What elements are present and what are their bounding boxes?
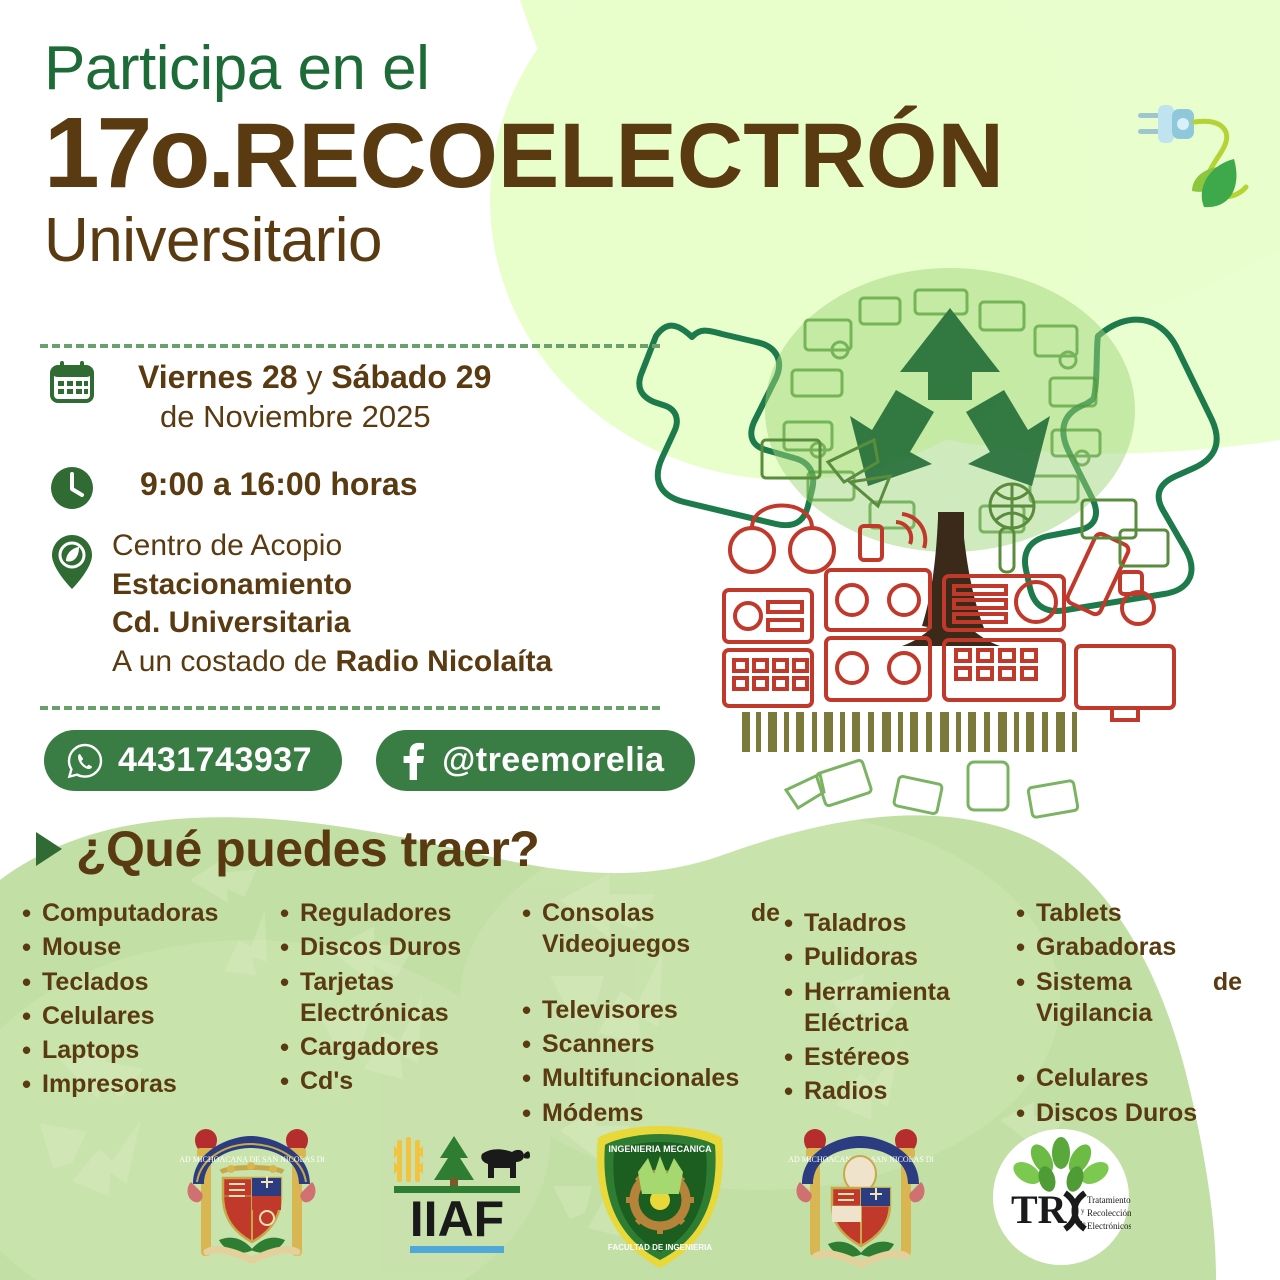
- bring-column-3: Consolas de Videojuegos Televisores Scan…: [518, 898, 780, 1132]
- umsnh-crest-logo: UNIVERSIDAD MICHOACANA DE SAN NICOLAS DE…: [179, 1122, 324, 1272]
- detail-row-time: 9:00 a 16:00 horas: [44, 453, 684, 511]
- place-line-4: A un costado de Radio Nicolaíta: [100, 643, 552, 681]
- poster-canvas: Participa en el 17o.RECOELECTRÓN Univers…: [0, 0, 1280, 1280]
- whatsapp-number: 4431743937: [118, 741, 312, 780]
- list-item: Radios: [780, 1076, 1012, 1107]
- plug-icon: [1138, 105, 1194, 143]
- iiaf-underline: [410, 1246, 504, 1253]
- wheat-icon: [394, 1137, 423, 1182]
- detail-row-date: Viernes 28 y Sábado 29 de Noviembre 2025: [44, 358, 684, 437]
- tre-conj-1: y: [1081, 1207, 1085, 1215]
- list-item: Impresoras: [18, 1069, 276, 1100]
- whatsapp-pill[interactable]: 4431743937: [44, 730, 342, 791]
- divider-bottom: [40, 706, 660, 710]
- whatsapp-icon: [66, 742, 104, 780]
- bring-section: ¿Qué puedes traer? Computadoras Mouse Te…: [0, 820, 1280, 1132]
- tre-line-3: Electrónicos: [1087, 1221, 1131, 1231]
- shield-bottom-text: FACULTAD DE INGENIERIA: [608, 1243, 712, 1252]
- bring-columns: Computadoras Mouse Teclados Celulares La…: [0, 898, 1280, 1132]
- edition-number: 17o.: [44, 97, 232, 209]
- list-item: Celulares: [18, 1001, 276, 1032]
- place-line-2: Estacionamiento: [112, 568, 352, 601]
- bring-column-5: Tablets Grabadoras Sistema de Vigilancia…: [1012, 898, 1242, 1132]
- date-day-1: Viernes 28: [138, 359, 298, 395]
- tre-conj-2: de: [1079, 1220, 1086, 1228]
- place-landmark: Radio Nicolaíta: [336, 645, 553, 678]
- place-text-group: Centro de Acopio Estacionamiento Cd. Uni…: [100, 527, 552, 681]
- tre-mark: TR: [1011, 1187, 1068, 1232]
- facebook-pill[interactable]: @treemorelia: [376, 730, 694, 791]
- detail-row-place: Centro de Acopio Estacionamiento Cd. Uni…: [44, 527, 684, 681]
- list-item: Teclados: [18, 967, 276, 998]
- triangle-bullet-icon: [36, 832, 62, 866]
- list-item: Herramienta Eléctrica: [780, 977, 1012, 1040]
- list-item: Mouse: [18, 932, 276, 963]
- list-item: Cd's: [276, 1066, 518, 1097]
- list-item: Pulidoras: [780, 942, 1012, 973]
- contact-pills: 4431743937 @treemorelia: [44, 730, 695, 791]
- plug-leaf-logo: [1130, 95, 1280, 225]
- poster-header: Participa en el 17o.RECOELECTRÓN Univers…: [44, 38, 1234, 273]
- place-line-3: Cd. Universitaria: [112, 606, 350, 639]
- tre-line-2: Recolección: [1087, 1208, 1131, 1218]
- facebook-handle: @treemorelia: [442, 741, 664, 780]
- pine-tree-icon: [434, 1136, 474, 1186]
- location-pin-icon: [44, 527, 100, 591]
- list-item: Estéreos: [780, 1042, 1012, 1073]
- bring-heading-row: ¿Qué puedes traer?: [0, 820, 1280, 878]
- calendar-icon: [44, 358, 100, 406]
- list-item: Cargadores: [276, 1032, 518, 1063]
- bring-column-4: Taladros Pulidoras Herramienta Eléctrica…: [780, 898, 1012, 1132]
- list-item: Televisores: [518, 995, 780, 1026]
- cow-icon: [481, 1149, 530, 1178]
- list-item: Multifuncionales: [518, 1063, 780, 1094]
- list-item: Computadoras: [18, 898, 276, 929]
- date-line-2: de Noviembre 2025: [100, 397, 491, 437]
- facebook-icon: [398, 742, 428, 780]
- page-title: 17o.RECOELECTRÓN: [44, 102, 1234, 204]
- bring-column-2: Reguladores Discos Duros Tarjetas Electr…: [276, 898, 518, 1132]
- list-item: Reguladores: [276, 898, 518, 929]
- list-item: Tablets: [1012, 898, 1242, 929]
- list-item: Laptops: [18, 1035, 276, 1066]
- list-item: Sistema de Vigilancia: [1012, 967, 1242, 1061]
- event-name: RECOELECTRÓN: [232, 105, 1004, 207]
- clock-icon: [44, 453, 100, 511]
- divider-top: [40, 344, 660, 348]
- shield-top-text: INGENIERIA MECANICA: [608, 1144, 712, 1154]
- ewaste-tree-illustration: [700, 250, 1220, 820]
- list-item: Grabadoras: [1012, 932, 1242, 963]
- iiaf-logo: IIAF: [382, 1132, 532, 1262]
- list-item: Scanners: [518, 1029, 780, 1060]
- kicker-text: Participa en el: [44, 38, 1234, 100]
- iiaf-label: IIAF: [410, 1191, 504, 1247]
- bring-heading: ¿Qué puedes traer?: [76, 820, 539, 878]
- date-line-1: Viernes 28 y Sábado 29: [100, 358, 491, 397]
- list-item: Taladros: [780, 908, 1012, 939]
- tre-logo: TR Tratamiento Recolección Electrónicos …: [991, 1127, 1131, 1267]
- list-item: Celulares: [1012, 1063, 1242, 1094]
- subtitle-text: Universitario: [44, 208, 1234, 273]
- tre-line-1: Tratamiento: [1087, 1195, 1131, 1205]
- sponsor-logos: UNIVERSIDAD MICHOACANA DE SAN NICOLAS DE…: [0, 1118, 1280, 1276]
- time-text-group: 9:00 a 16:00 horas: [100, 453, 418, 503]
- list-item: Tarjetas Electrónicas: [276, 967, 518, 1030]
- date-conjunction: y: [298, 359, 332, 395]
- umsnh-crest-logo-2: UNIVERSIDAD MICHOACANA DE SAN NICOLAS DE…: [788, 1122, 933, 1272]
- date-day-2: Sábado 29: [331, 359, 491, 395]
- list-item: Consolas de Videojuegos: [518, 898, 780, 992]
- date-text-group: Viernes 28 y Sábado 29 de Noviembre 2025: [100, 358, 491, 437]
- place-line-1: Centro de Acopio: [100, 527, 552, 565]
- place-line-4-prefix: A un costado de: [112, 645, 336, 678]
- event-details: Viernes 28 y Sábado 29 de Noviembre 2025…: [44, 358, 684, 697]
- list-item: Discos Duros: [276, 932, 518, 963]
- bring-column-1: Computadoras Mouse Teclados Celulares La…: [18, 898, 276, 1132]
- time-text: 9:00 a 16:00 horas: [100, 453, 418, 503]
- ingenieria-mecanica-shield-logo: INGENIERIA MECANICA FACULTAD DE INGENIER…: [590, 1122, 730, 1272]
- barcode-strip: [742, 712, 1077, 752]
